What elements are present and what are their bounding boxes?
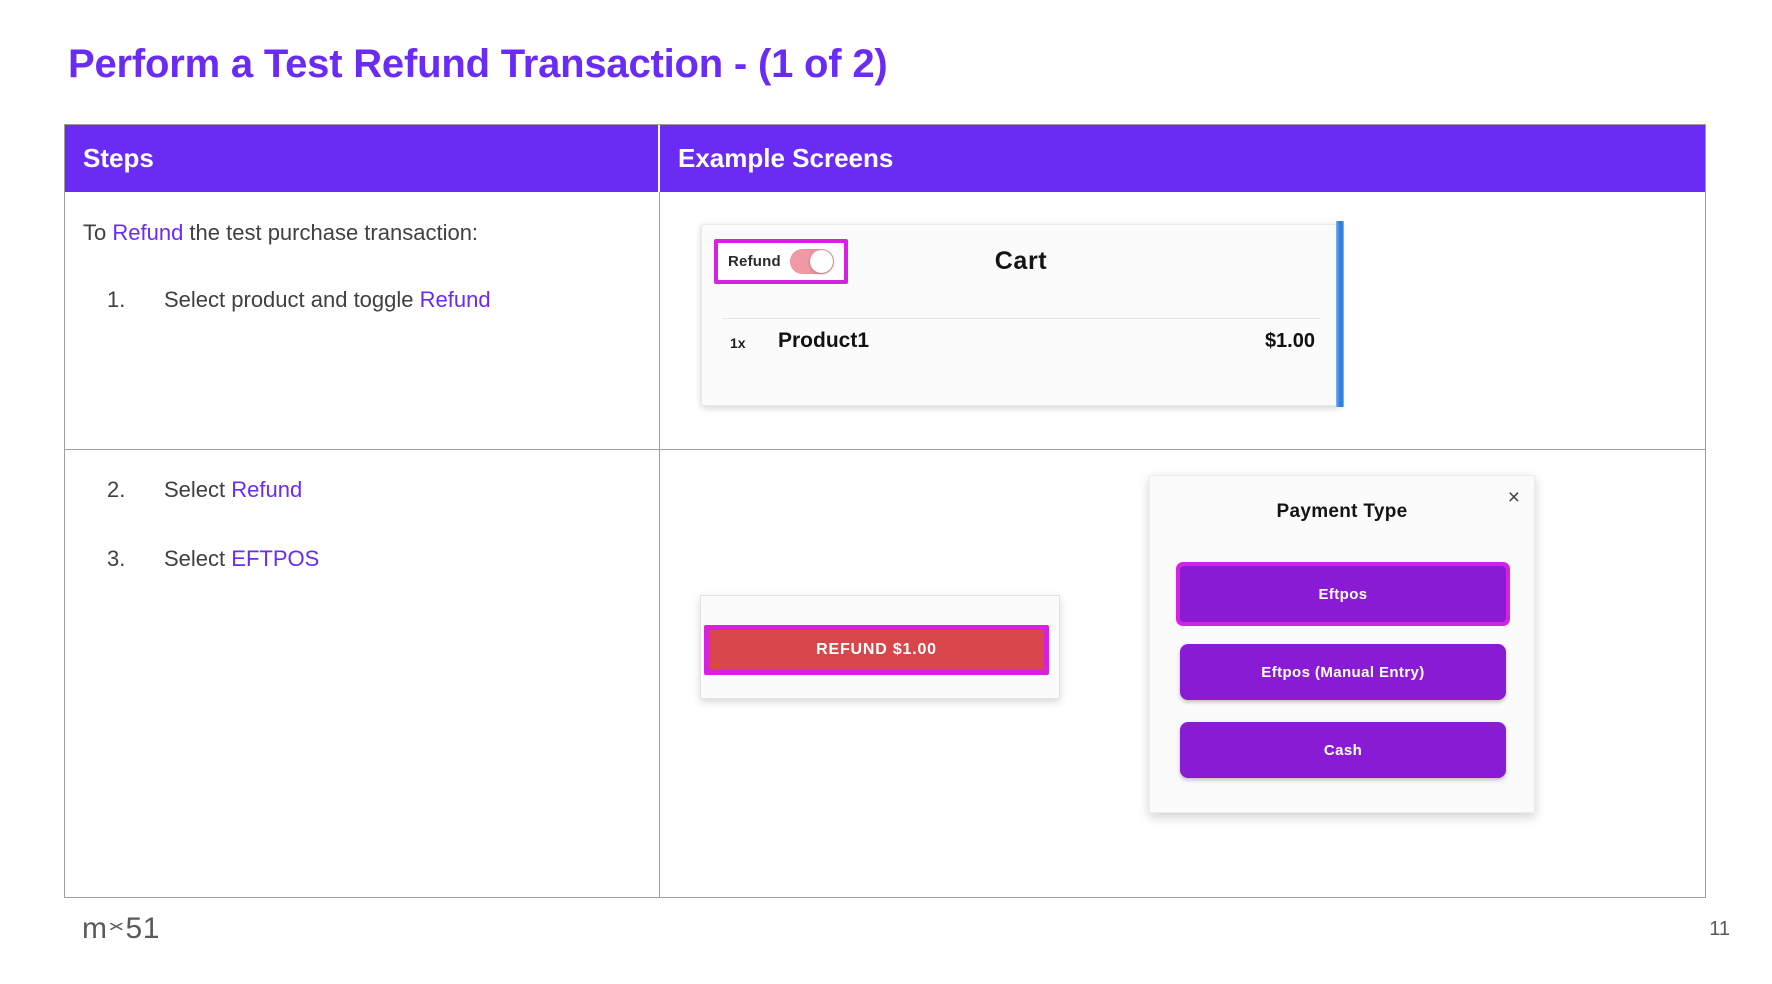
intro-highlight-refund: Refund <box>112 220 183 245</box>
payment-option-cash[interactable]: Cash <box>1180 722 1506 778</box>
column-header-example-screens: Example Screens <box>660 125 1705 192</box>
step-highlight-eftpos: EFTPOS <box>231 546 319 571</box>
step-number-3: 3. <box>107 546 164 572</box>
cart-item-qty: 1x <box>730 335 746 351</box>
page-number: 11 <box>1709 918 1730 941</box>
steps-cell-row2: 2.Select Refund 3.Select EFTPOS <box>65 450 660 897</box>
logo-x-glyph: × <box>108 919 126 936</box>
example-screens-cell-row1: Refund Cart 1x Product1 $1.00 <box>660 192 1705 449</box>
brand-logo: m×51 <box>82 912 160 946</box>
payment-option-eftpos-manual-entry[interactable]: Eftpos (Manual Entry) <box>1180 644 1506 700</box>
cart-title: Cart <box>702 247 1340 276</box>
step-number-1: 1. <box>107 287 164 313</box>
intro-text: To Refund the test purchase transaction: <box>83 220 478 246</box>
column-header-steps: Steps <box>65 125 660 192</box>
logo-suffix: 51 <box>126 912 160 946</box>
cart-item-name: Product1 <box>778 329 869 353</box>
page-title: Perform a Test Refund Transaction - (1 o… <box>68 42 887 87</box>
step-highlight-refund-2: Refund <box>231 477 302 502</box>
steps-cell-row1: To Refund the test purchase transaction:… <box>65 192 660 449</box>
table-header-row: Steps Example Screens <box>65 125 1705 192</box>
step-number-2: 2. <box>107 477 164 503</box>
cart-item-price: $1.00 <box>1265 330 1315 353</box>
intro-prefix: To <box>83 220 112 245</box>
divider <box>722 318 1320 319</box>
step-text-2: Select <box>164 477 231 502</box>
payment-option-eftpos[interactable]: Eftpos <box>1180 566 1506 622</box>
intro-suffix: the test purchase transaction: <box>183 220 478 245</box>
refund-button-highlight-box: REFUND $1.00 <box>704 625 1049 675</box>
steps-table: Steps Example Screens To Refund the test… <box>64 124 1706 898</box>
step-item-3: 3.Select EFTPOS <box>107 546 319 572</box>
step-text-1: Select product and toggle <box>164 287 420 312</box>
table-row: 2.Select Refund 3.Select EFTPOS REFUND $… <box>65 450 1705 897</box>
refund-button[interactable]: REFUND $1.00 <box>709 630 1044 670</box>
step-text-3: Select <box>164 546 231 571</box>
cart-line-item[interactable]: 1x Product1 $1.00 <box>702 329 1340 359</box>
refund-screen-mock: REFUND $1.00 <box>700 595 1060 699</box>
cart-screen-mock: Refund Cart 1x Product1 $1.00 <box>701 224 1341 406</box>
step-item-1: 1.Select product and toggle Refund <box>107 287 491 313</box>
example-screens-cell-row2: REFUND $1.00 × Payment Type Eftpos Eftpo… <box>660 450 1705 897</box>
step-item-2: 2.Select Refund <box>107 477 302 503</box>
step-highlight-refund: Refund <box>420 287 491 312</box>
table-row: To Refund the test purchase transaction:… <box>65 192 1705 450</box>
payment-type-dialog: × Payment Type Eftpos Eftpos (Manual Ent… <box>1149 475 1535 813</box>
dialog-title: Payment Type <box>1150 501 1534 523</box>
logo-prefix: m <box>82 912 108 946</box>
